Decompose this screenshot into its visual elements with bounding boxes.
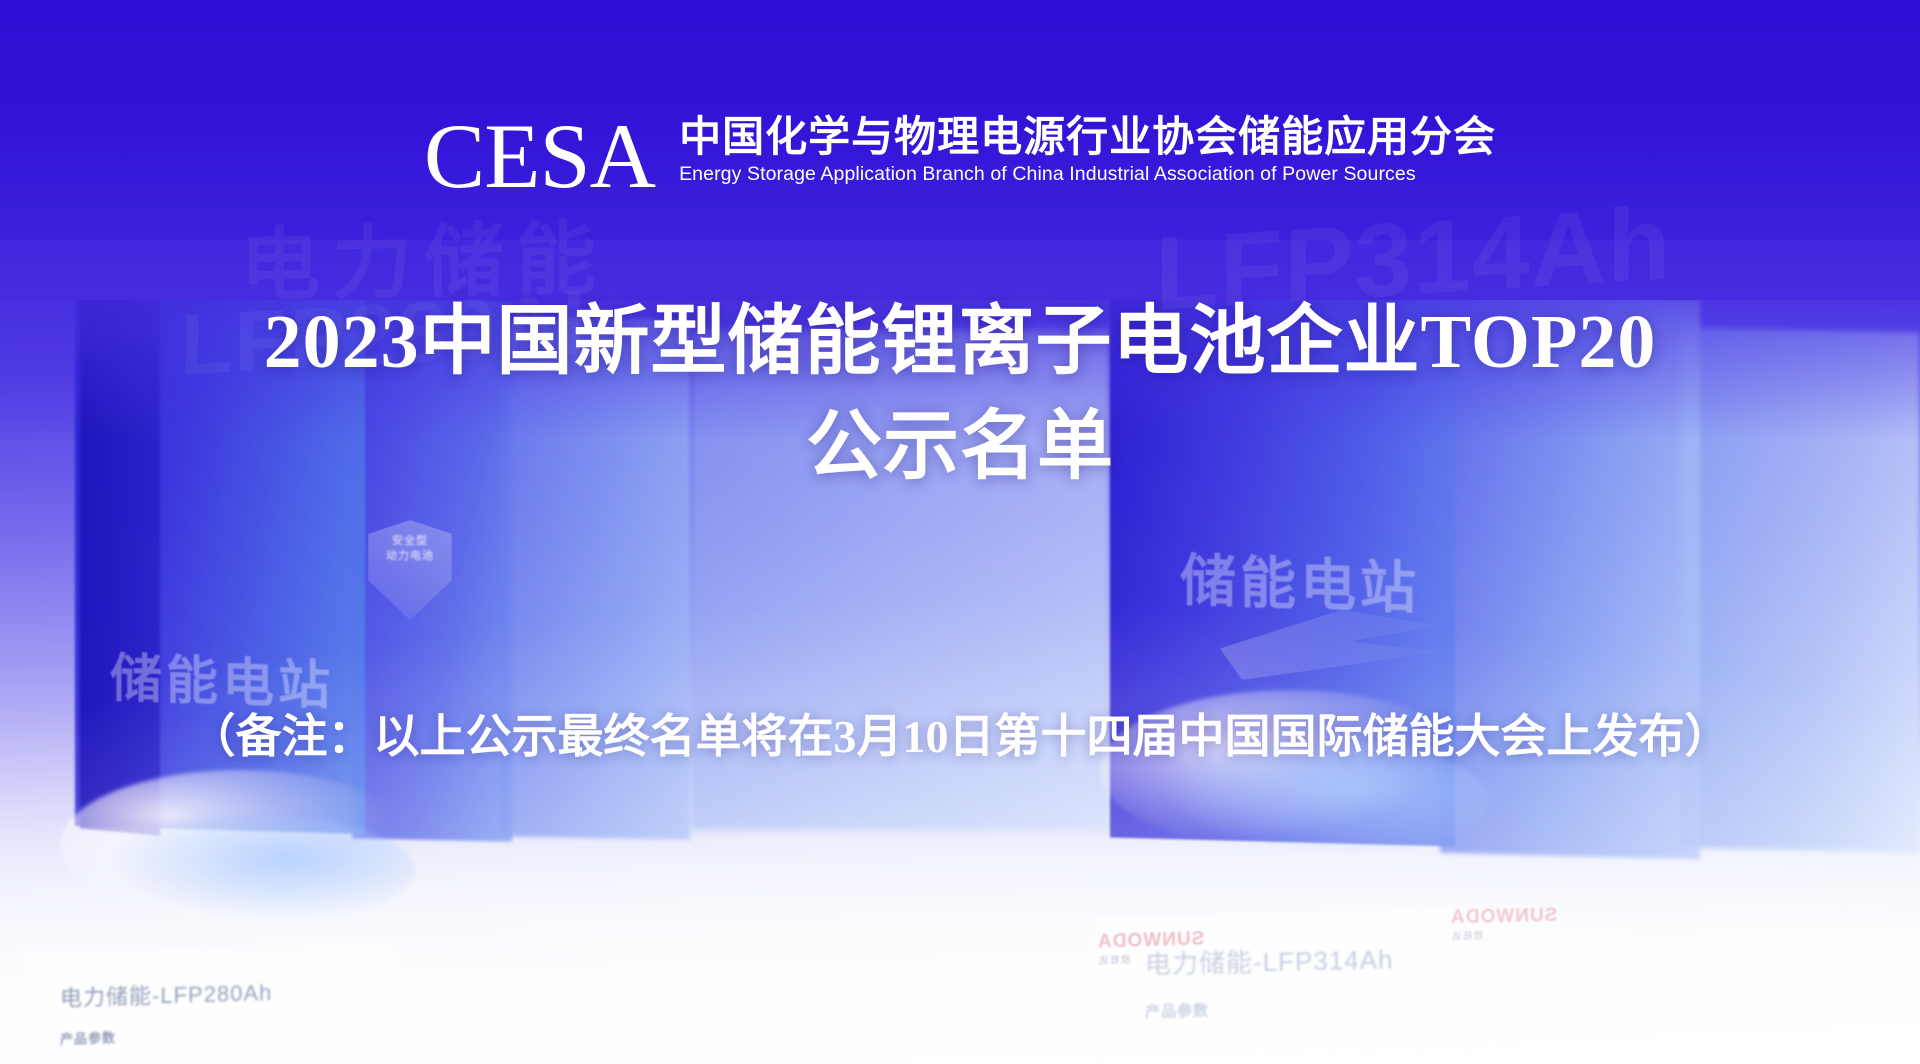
- cesa-wordmark: CESA: [424, 116, 655, 197]
- cesa-org-name-en: Energy Storage Application Branch of Chi…: [679, 164, 1496, 185]
- poster-canvas: 储能电站 储能电站 安全型 动力电池 电力储能-LFP280Ah 产品参数 电力…: [0, 0, 1920, 1064]
- poster-content: CESA 中国化学与物理电源行业协会储能应用分会 Energy Storage …: [0, 0, 1920, 1064]
- cesa-org-name-cn: 中国化学与物理电源行业协会储能应用分会: [679, 114, 1496, 159]
- cesa-logo-lockup: CESA 中国化学与物理电源行业协会储能应用分会 Energy Storage …: [0, 108, 1920, 189]
- page-title-line2: 公示名单: [0, 395, 1920, 500]
- cesa-org-names: 中国化学与物理电源行业协会储能应用分会 Energy Storage Appli…: [679, 114, 1496, 189]
- page-note: （备注：以上公示最终名单将在3月10日第十四届中国国际储能大会上发布）: [0, 700, 1920, 766]
- page-title-line1: 2023中国新型储能锂离子电池企业TOP20: [0, 290, 1920, 395]
- page-title: 2023中国新型储能锂离子电池企业TOP20 公示名单: [0, 290, 1920, 500]
